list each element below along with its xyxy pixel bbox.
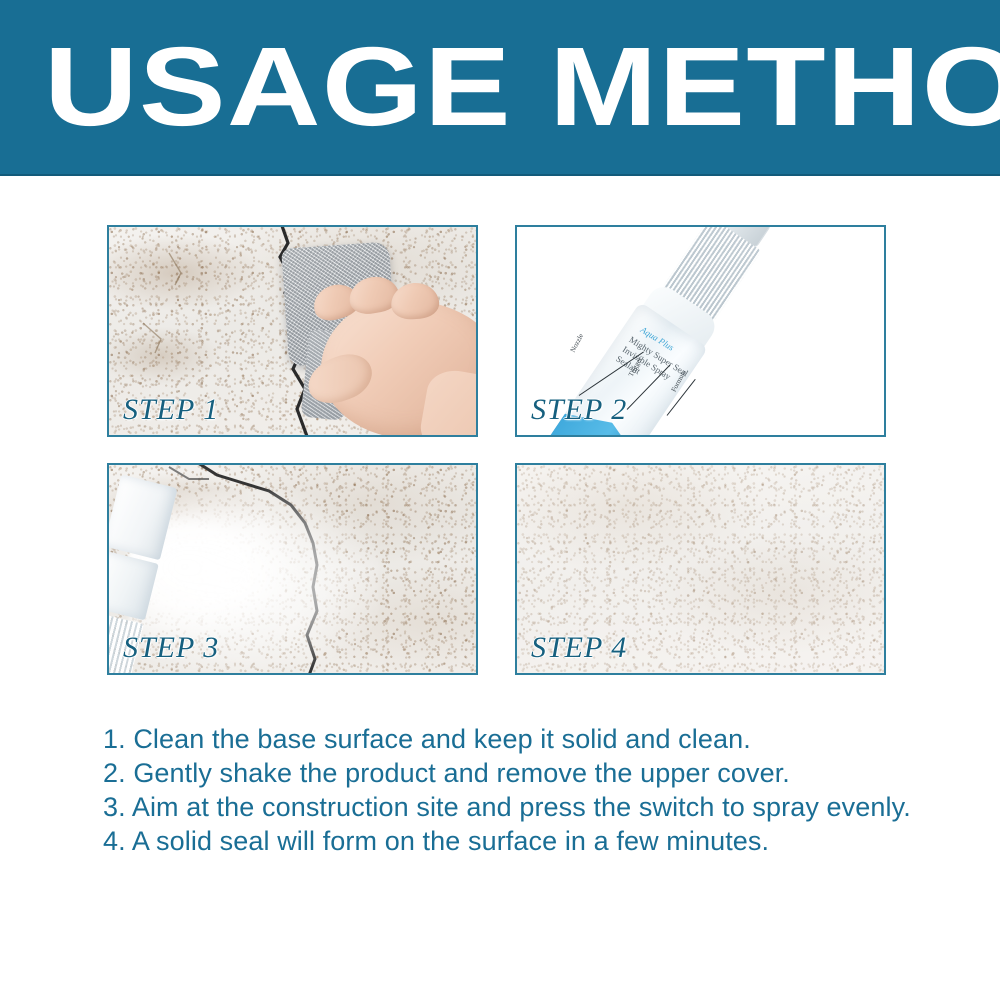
step-label-3: STEP 3 [123, 631, 219, 665]
step-panel-1[interactable]: STEP 1 [107, 225, 478, 437]
step-label-2: STEP 2 [531, 393, 627, 427]
page-title: USAGE METHOD [44, 28, 1000, 146]
instruction-item-2: 2. Gently shake the product and remove t… [103, 756, 933, 790]
step-panel-4[interactable]: STEP 4 [515, 463, 886, 675]
step-label-1: STEP 1 [123, 393, 219, 427]
instruction-item-3: 3. Aim at the construction site and pres… [103, 790, 933, 824]
step-panel-3[interactable]: STEP 3 [107, 463, 478, 675]
hand-illustration [305, 269, 476, 435]
step-panel-2[interactable]: Aqua Plus Mighty Super Seal Invisible Sp… [515, 225, 886, 437]
step-panel-grid: STEP 1 Aqua Plus Mighty Super Seal Invis… [107, 225, 886, 675]
step-label-4: STEP 4 [531, 631, 627, 665]
instruction-item-1: 1. Clean the base surface and keep it so… [103, 722, 933, 756]
instruction-item-4: 4. A solid seal will form on the surface… [103, 824, 933, 858]
usage-method-infographic: USAGE METHOD [0, 0, 1000, 1000]
instruction-list: 1. Clean the base surface and keep it so… [103, 722, 933, 858]
bottle-cap [109, 474, 178, 560]
bottle-collar [109, 550, 159, 620]
header-banner: USAGE METHOD [0, 0, 1000, 176]
